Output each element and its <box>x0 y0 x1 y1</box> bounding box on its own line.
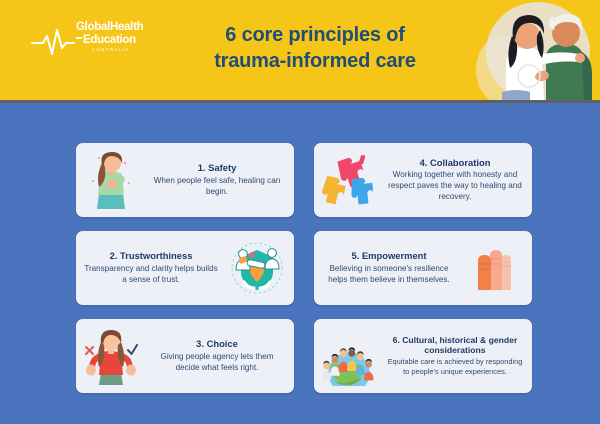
card-title: 2. Trustworthiness <box>82 250 220 261</box>
puzzle-pieces-illustration <box>318 148 380 212</box>
card-text-block: 2. Trustworthiness Transparency and clar… <box>76 250 226 285</box>
infographic-poster: GlobalHealth Education AUSTRALIA 6 core … <box>0 0 600 424</box>
principle-card-collaboration[interactable]: 4. Collaboration Working together with h… <box>314 143 532 217</box>
header-divider <box>0 100 600 103</box>
woman-hands-on-chest-illustration <box>80 148 142 212</box>
card-text-block: 5. Empowerment Believing in someone's re… <box>314 250 464 285</box>
card-body: Transparency and clarity helps builds a … <box>82 264 220 286</box>
logo-line-2: Education <box>83 34 136 46</box>
page-title: 6 core principles of trauma-informed car… <box>150 22 480 75</box>
card-title: 6. Cultural, historical & gender conside… <box>386 335 524 356</box>
title-line-1: 6 core principles of <box>150 22 480 48</box>
header-banner: GlobalHealth Education AUSTRALIA 6 core … <box>0 0 600 100</box>
principle-card-empowerment[interactable]: 5. Empowerment Believing in someone's re… <box>314 231 532 305</box>
card-body: Equitable care is achieved by responding… <box>386 357 524 377</box>
card-title: 5. Empowerment <box>320 250 458 261</box>
card-body: Giving people agency lets them decide wh… <box>148 352 286 374</box>
title-line-2: trauma-informed care <box>150 48 480 74</box>
check-icon <box>128 345 137 354</box>
card-body: When people feel safe, healing can begin… <box>148 176 286 198</box>
people-on-globe-illustration <box>318 324 380 388</box>
brand-logo: GlobalHealth Education AUSTRALIA <box>30 22 155 64</box>
raised-fists-illustration <box>464 236 526 300</box>
card-title: 4. Collaboration <box>386 157 524 168</box>
header-illustration <box>472 0 600 100</box>
card-text-block: 4. Collaboration Working together with h… <box>380 157 532 203</box>
card-text-block: 3. Choice Giving people agency lets them… <box>142 338 294 373</box>
card-body: Working together with honesty and respec… <box>386 170 524 203</box>
card-text-block: 6. Cultural, historical & gender conside… <box>380 335 532 378</box>
woman-shrugging-check-cross-illustration <box>80 324 142 388</box>
principle-card-safety[interactable]: 1. Safety When people feel safe, healing… <box>76 143 294 217</box>
card-title: 1. Safety <box>148 162 286 173</box>
card-title: 3. Choice <box>148 338 286 349</box>
principle-card-cultural-considerations[interactable]: 6. Cultural, historical & gender conside… <box>314 319 532 393</box>
logo-line-3: AUSTRALIA <box>92 47 130 52</box>
principle-card-choice[interactable]: 3. Choice Giving people agency lets them… <box>76 319 294 393</box>
principle-card-trustworthiness[interactable]: 2. Trustworthiness Transparency and clar… <box>76 231 294 305</box>
principles-grid: 1. Safety When people feel safe, healing… <box>76 143 532 393</box>
cross-icon <box>86 347 93 354</box>
handshake-heart-illustration <box>226 236 288 300</box>
card-body: Believing in someone's resilience helps … <box>320 264 458 286</box>
logo-dash-icon <box>76 37 82 39</box>
logo-line-1: GlobalHealth <box>76 21 143 33</box>
card-text-block: 1. Safety When people feel safe, healing… <box>142 162 294 197</box>
